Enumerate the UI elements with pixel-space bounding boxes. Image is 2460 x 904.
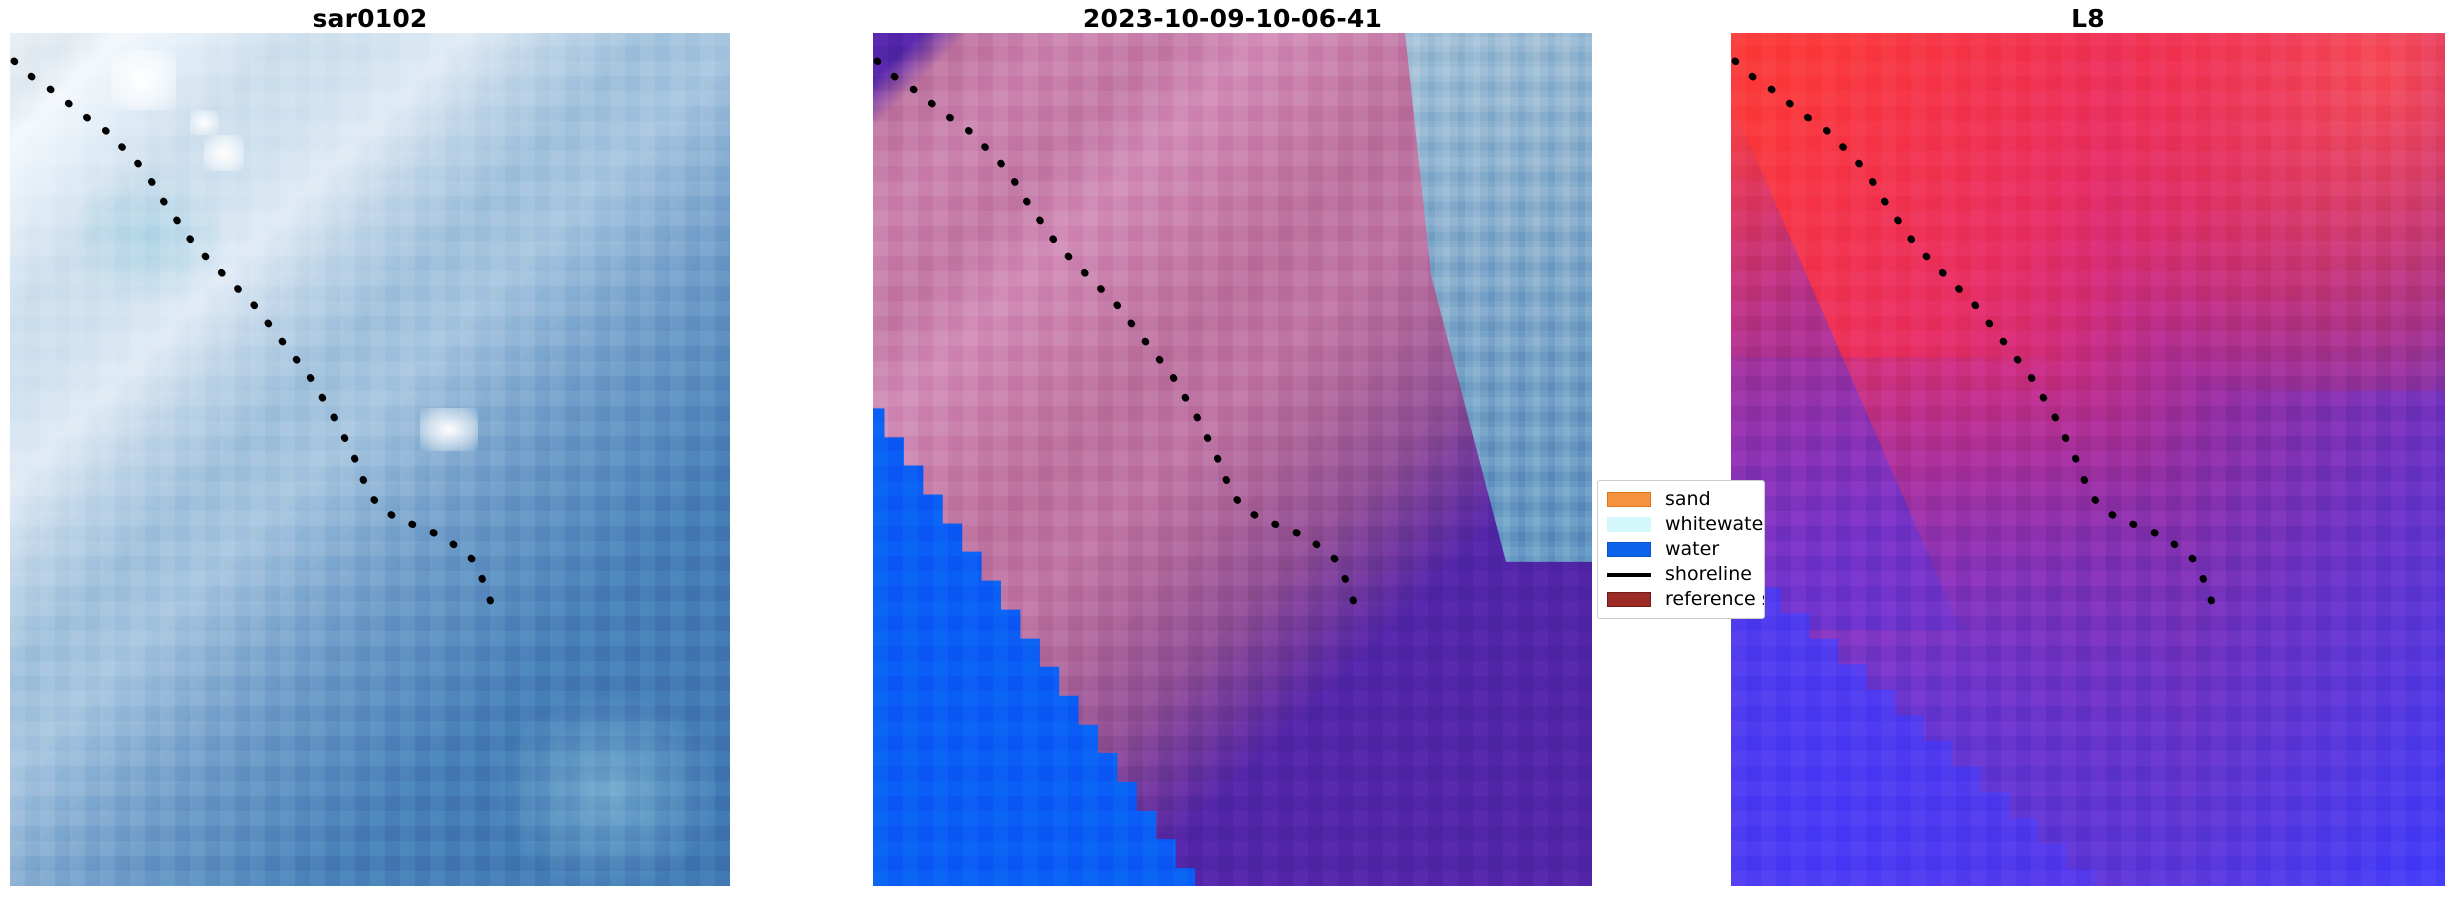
raster-sar-pixel-texture [10, 33, 730, 886]
panel-l8[interactable]: L8 [1731, 0, 2445, 904]
axes-classification[interactable] [873, 33, 1592, 886]
legend-swatch-shoreline [1607, 573, 1651, 577]
axes-l8[interactable] [1731, 33, 2445, 886]
legend-item-reference-shoreline[interactable]: reference shoreline [1607, 590, 1754, 609]
legend-label-whitewater: whitewater [1665, 515, 1765, 534]
legend-swatch-reference-shoreline [1607, 592, 1651, 607]
legend-swatch-water [1607, 542, 1651, 557]
axes-sar0102[interactable] [10, 33, 730, 886]
legend-item-shoreline[interactable]: shoreline [1607, 565, 1754, 584]
legend-box[interactable]: sand whitewater water shoreline referenc… [1597, 480, 1765, 619]
legend-swatch-sand [1607, 492, 1651, 507]
legend-item-whitewater[interactable]: whitewater [1607, 515, 1754, 534]
legend-swatch-whitewater [1607, 517, 1651, 532]
figure-canvas: sar0102 2023-10-09-10-06-41 [0, 0, 2460, 904]
panel-title-sar0102: sar0102 [10, 4, 730, 34]
legend-item-sand[interactable]: sand [1607, 490, 1754, 509]
panel-title-classification: 2023-10-09-10-06-41 [873, 4, 1592, 34]
legend-label-reference-shoreline: reference shoreline [1665, 590, 1765, 609]
panel-classification[interactable]: 2023-10-09-10-06-41 [873, 0, 1592, 904]
panel-title-l8: L8 [1731, 4, 2445, 34]
legend-label-sand: sand [1665, 490, 1711, 509]
raster-l8-pixel-texture [1731, 33, 2445, 886]
legend-label-water: water [1665, 540, 1719, 559]
raster-class-pixel-texture [873, 33, 1592, 886]
panel-sar0102[interactable]: sar0102 [10, 0, 730, 904]
legend-item-water[interactable]: water [1607, 540, 1754, 559]
legend-label-shoreline: shoreline [1665, 565, 1752, 584]
